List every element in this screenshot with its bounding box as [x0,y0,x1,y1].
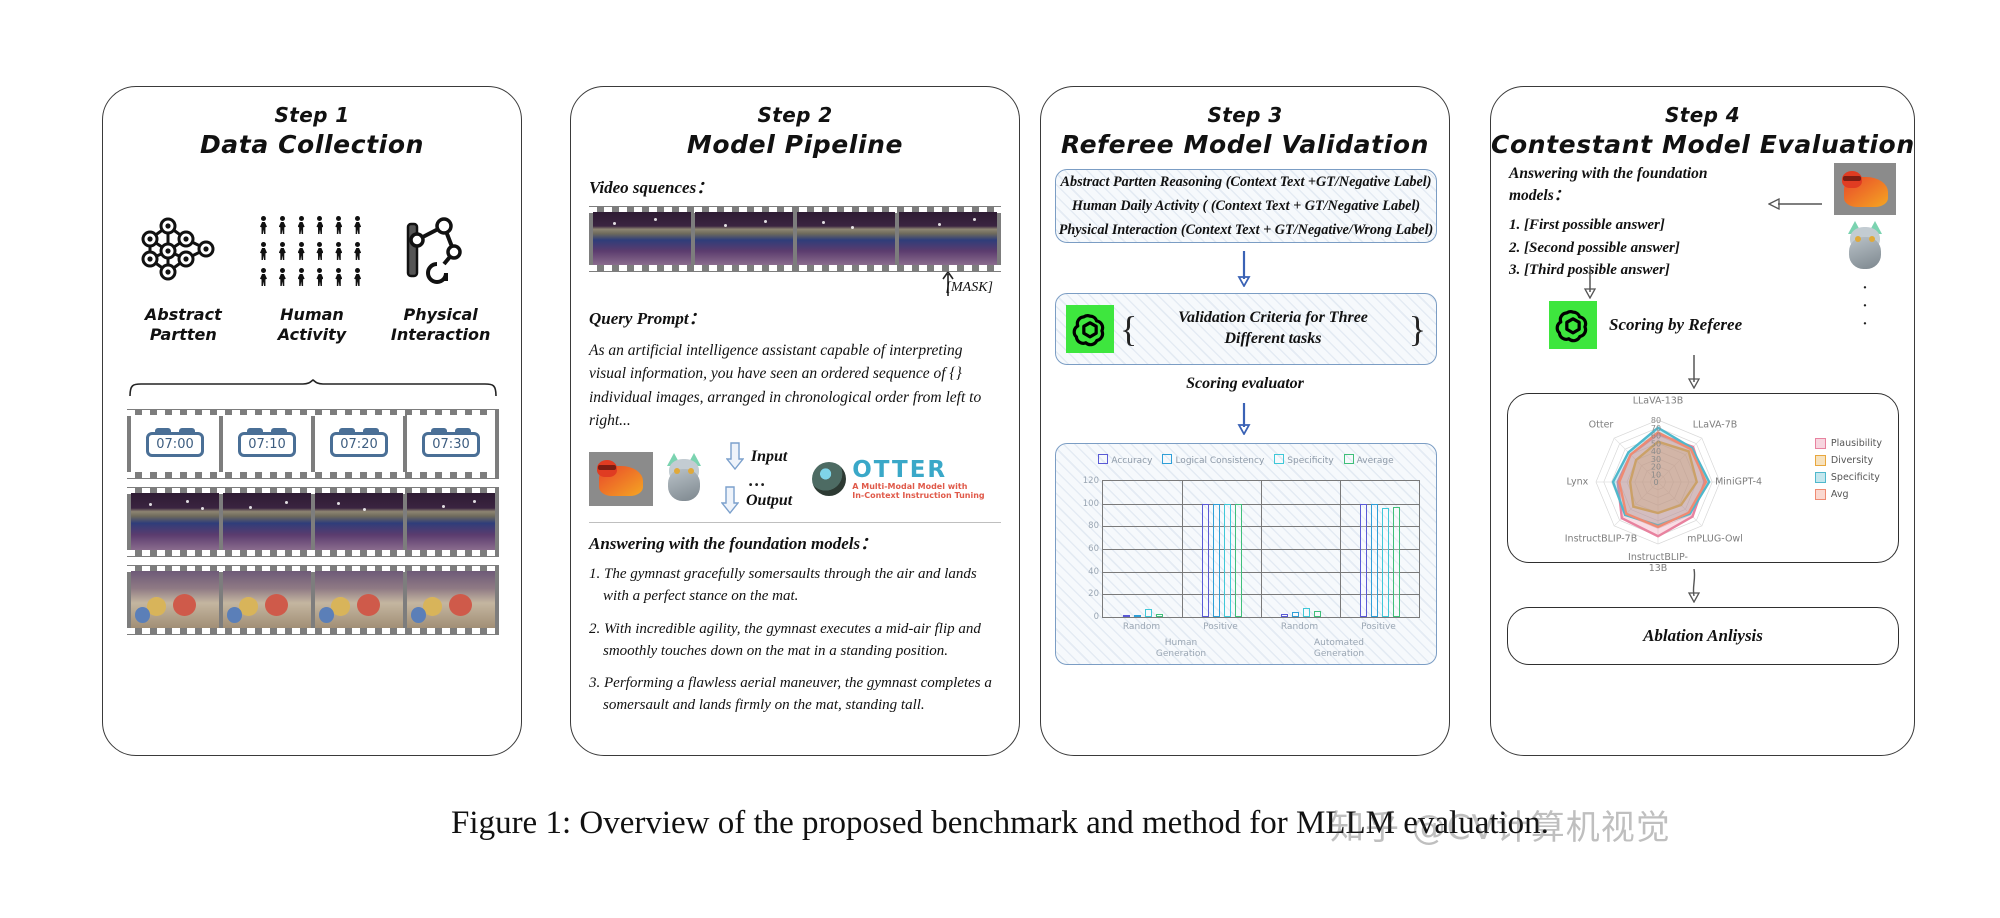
group-divider [1182,481,1183,617]
legend-item: Specificity [1274,454,1333,466]
task-line: Abstract Partten Reasoning (Context Text… [1056,170,1436,194]
bar [1134,615,1141,617]
bar [1202,504,1209,617]
clock-frame-label: 07:30 [422,432,479,457]
fox-figurine-image [1834,163,1896,215]
bar [1393,507,1400,617]
step-4-answer-item: 2. [Second possible answer] [1509,237,1759,260]
flow-arrow-icon [1583,265,1597,304]
x-axis-group-label: AutomatedGeneration [1314,638,1364,661]
y-axis-tick: 20 [1088,589,1099,599]
step-2-number: Step 2 [571,103,1019,127]
y-axis-tick: 0 [1094,612,1099,622]
otter-model-logo: OTTER A Multi-Modal Model with In-Contex… [812,459,984,500]
x-axis-tick: Random [1123,622,1160,632]
scoring-by-referee-label: Scoring by Referee [1609,315,1742,335]
ablation-analysis-box: Ablation Anliysis [1507,607,1899,665]
category-physical-interaction [381,212,501,293]
ablation-analysis-label: Ablation Anliysis [1643,626,1763,646]
query-prompt-text: As an artificial intelligence assistant … [589,339,1001,432]
step-4-number: Step 4 [1491,103,1914,127]
bar [1292,612,1299,617]
radar-axis-label: MiniGPT-4 [1715,477,1762,488]
flow-arrow-icon [1236,403,1252,440]
scoring-by-referee-row: Scoring by Referee [1549,301,1742,349]
category-label-abstract: AbstractPartten [145,305,222,345]
legend-item: Average [1344,454,1394,466]
radar-axis-label: mPLUG-Owl [1687,533,1743,544]
step-1-header: Step 1 Data Collection [103,103,521,159]
radar-chart-legend: PlausibilityDiversitySpecificityAvg [1815,438,1882,506]
step-2-answer-item: 2. With incredible agility, the gymnast … [589,621,981,659]
radar-axis-label: LLaVA-7B [1693,420,1738,431]
step-1-category-icons [103,197,521,293]
task-definitions-box: Abstract Partten Reasoning (Context Text… [1055,169,1437,243]
output-arrow-icon [721,486,739,516]
y-axis-tick: 80 [1088,521,1099,531]
figure-canvas: Step 1 Data Collection [0,0,2000,918]
legend-item: Avg [1815,489,1882,500]
bar-chart-plot: 020406080100120 [1102,480,1420,618]
input-arrow-icon [726,442,744,472]
step-1-title: Data Collection [103,130,521,159]
openai-logo-icon [1549,301,1597,349]
step-2-answer-label: Answering with the foundation models： [589,529,1001,554]
x-axis-group-label: HumanGeneration [1156,638,1206,661]
step-2-header: Step 2 Model Pipeline [571,103,1019,159]
flow-arrow-icon [1236,251,1252,292]
step-2-panel: Step 2 Model Pipeline Video squences： [M… [570,86,1020,756]
legend-item: Specificity [1815,472,1882,483]
legend-item: Logical Consistency [1162,454,1264,466]
x-axis-tick: Random [1281,622,1318,632]
group-divider [1261,481,1262,617]
mask-label: [MASK] [946,280,993,296]
right-brace: } [1409,311,1426,347]
flow-arrow-icon [1687,355,1701,394]
legend-item: Plausibility [1815,438,1882,449]
step-1-number: Step 1 [103,103,521,127]
x-axis-tick: Positive [1361,622,1396,632]
ellipsis-dots: ... [748,472,766,486]
radar-chart-panel: 80706050403020100LLaVA-13BLLaVA-7BMiniGP… [1507,393,1899,563]
step-3-panel: Step 3 Referee Model Validation Abstract… [1040,86,1450,756]
openai-logo-icon [1066,305,1114,353]
category-human-activity [252,216,372,293]
fox-figurine-image [589,452,653,506]
bar-chart-panel: Accuracy Logical Consistency Specificity… [1055,443,1437,665]
step-4-answer-item: 3. [Third possible answer] [1509,259,1759,282]
clock-frame-label: 07:00 [146,432,203,457]
step-4-title: Contestant Model Evaluation [1491,130,1914,159]
validation-criteria-text: Validation Criteria for Three Different … [1137,308,1408,350]
bar [1360,504,1367,617]
mask-annotation: [MASK] [589,272,1001,300]
bar [1303,608,1310,617]
task-line: Physical Interaction (Context Text + GT/… [1056,218,1436,242]
bar [1314,611,1321,617]
step-4-header: Step 4 Contestant Model Evaluation [1491,103,1914,159]
step-4-panel: Step 4 Contestant Model Evaluation Answe… [1490,86,1915,756]
legend-item: Accuracy [1098,454,1152,466]
group-divider [1340,481,1341,617]
x-axis-tick: Positive [1203,622,1238,632]
bar [1156,614,1163,617]
grouping-brace [127,379,499,395]
video-sequences-label: Video squences： [589,173,1001,198]
radar-axis-label: Otter [1589,420,1614,431]
bar [1224,504,1231,617]
task-line: Human Daily Activity ( (Context Text + G… [1056,194,1436,218]
category-label-human: HumanActivity [278,305,347,345]
robot-arm-icon [404,212,478,293]
step-3-number: Step 3 [1041,103,1449,127]
validation-criteria-box: { Validation Criteria for Three Differen… [1055,293,1437,365]
bar [1235,504,1242,617]
input-label: Input [751,448,787,466]
figure-caption: Figure 1: Overview of the proposed bench… [0,805,2000,842]
filmstrip-kitchen [127,565,499,635]
step-1-panel: Step 1 Data Collection [102,86,522,756]
filmstrip-gymnastics [127,487,499,557]
flow-arrow-icon [1687,569,1701,608]
y-axis-tick: 60 [1088,544,1099,554]
radar-axis-label: InstructBLIP-13B [1628,552,1688,574]
cat-figurine-image [1840,221,1890,273]
y-axis-tick: 100 [1083,499,1099,509]
left-brace: { [1120,311,1137,347]
step-4-answer-label: Answering with the foundation models： [1509,165,1759,205]
step-3-header: Step 3 Referee Model Validation [1041,103,1449,159]
category-abstract-partten [123,214,243,293]
bar [1371,504,1378,617]
output-label: Output [746,492,792,510]
query-prompt-label: Query Prompt： [589,304,1001,329]
step-2-answer-item: 3. Performing a flawless aerial maneuver… [589,675,992,713]
radar-axis-label: Lynx [1567,477,1589,488]
bar [1213,504,1220,617]
bar [1123,615,1130,617]
radar-axis-label: LLaVA-13B [1633,396,1684,407]
bar [1145,609,1152,617]
step-3-title: Referee Model Validation [1041,130,1449,159]
vertical-ellipsis-icon: ··· [1834,279,1896,333]
human-activity-icon [256,216,368,293]
clock-frame-label: 07:10 [238,432,295,457]
bar [1382,508,1389,617]
filmstrip-step2 [589,206,1001,272]
svg-text:0: 0 [1653,478,1658,487]
criteria-line-1: Validation Criteria for Three [1178,309,1368,326]
otter-tagline-line2: In-Context Instruction Tuning [852,491,984,500]
otter-name: OTTER [852,459,984,482]
radar-axis-label: InstructBLIP-7B [1565,533,1638,544]
otter-avatar-icon [812,462,846,496]
otter-tagline-line1: A Multi-Modal Model with [852,482,984,491]
scoring-evaluator-label: Scoring evaluator [1041,375,1449,393]
step-4-answer-item: 1. [First possible answer] [1509,214,1759,237]
step-2-title: Model Pipeline [571,130,1019,159]
bar [1281,614,1288,617]
bar-chart-legend: Accuracy Logical Consistency Specificity… [1056,454,1436,466]
category-label-physical: PhysicalInteraction [391,305,491,345]
criteria-line-2: Different tasks [1224,330,1321,347]
step-1-category-labels: AbstractPartten HumanActivity PhysicalIn… [103,287,521,339]
contestant-models-images: ··· [1834,163,1896,333]
step-2-answer-item: 1. The gymnast gracefully somersaults th… [589,566,977,604]
feed-arrow-icon [1768,197,1822,216]
neural-network-icon [140,214,226,293]
y-axis-tick: 40 [1088,567,1099,577]
legend-item: Diversity [1815,455,1882,466]
clock-frame-label: 07:20 [330,432,387,457]
filmstrip-clock: 07:00 07:10 07:20 07:30 [127,409,499,479]
cat-figurine-image [659,453,709,505]
y-axis-tick: 120 [1083,476,1099,486]
